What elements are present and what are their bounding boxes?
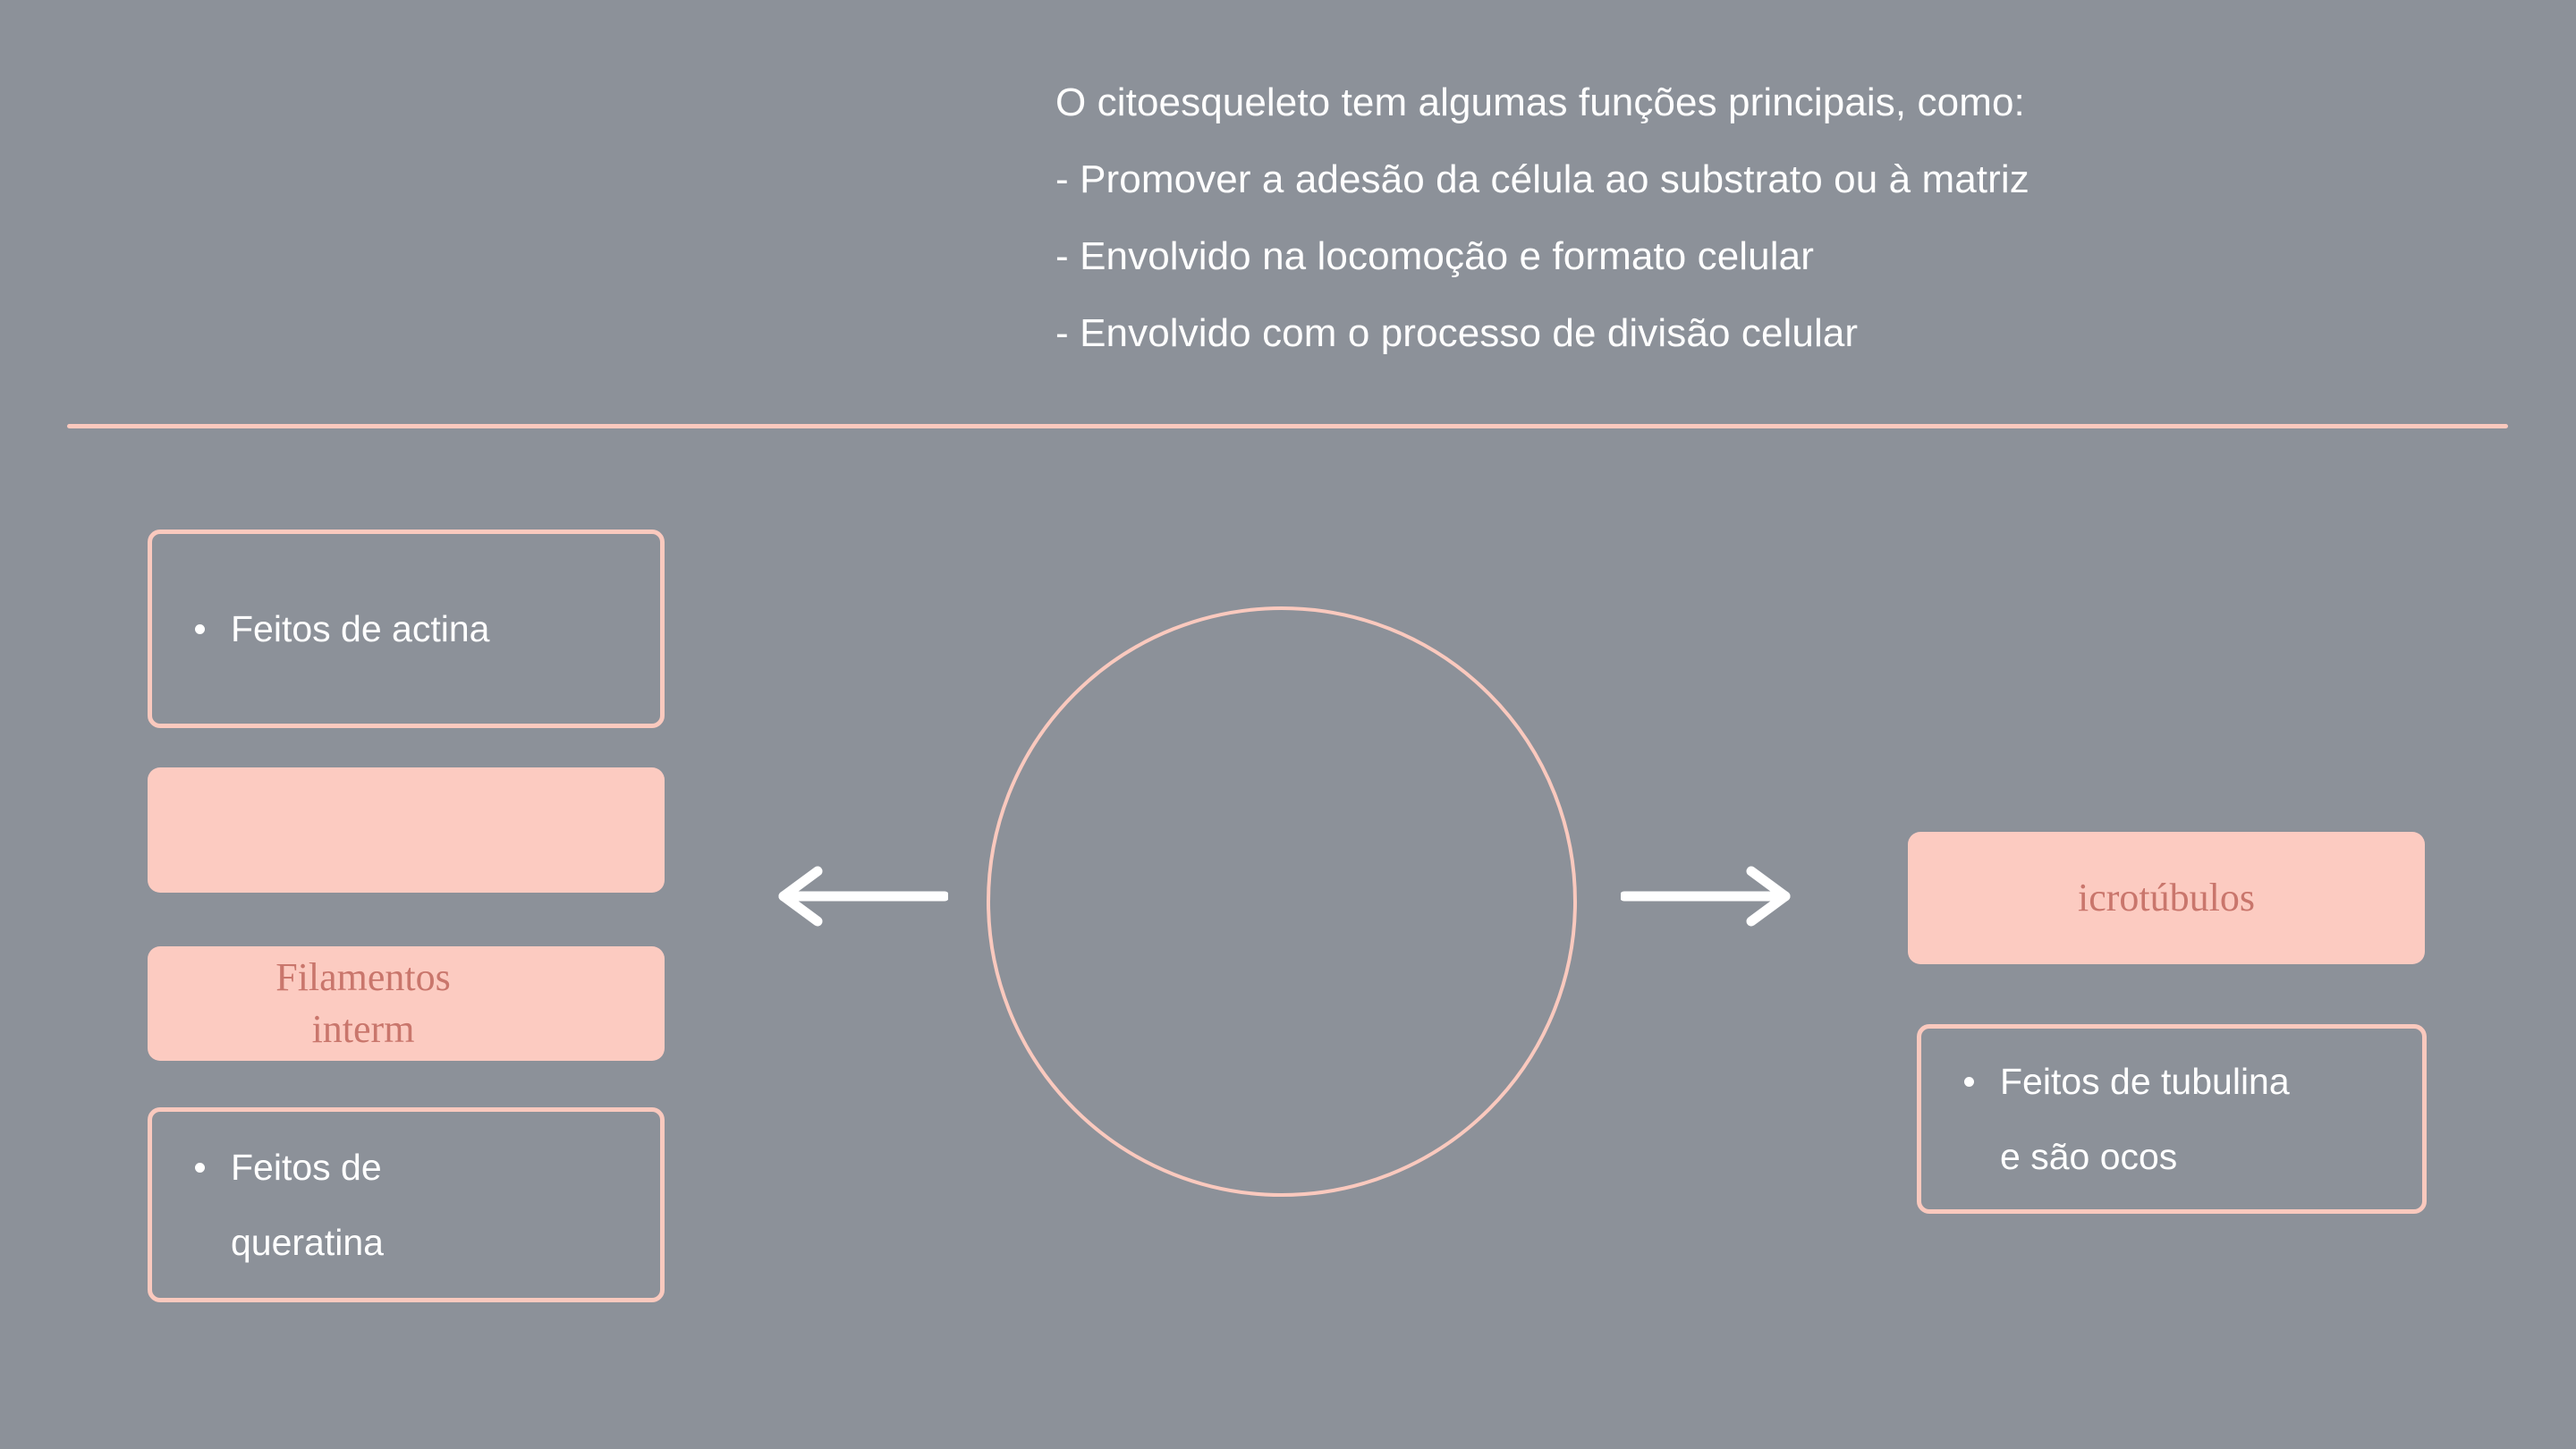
keratin-bullet-list: Feitos de queratina	[152, 1130, 660, 1280]
box-actin-bullets[interactable]: Feitos de actina	[148, 530, 665, 728]
box-tubulin-bullets[interactable]: Feitos de tubulina e são ocos	[1917, 1024, 2427, 1214]
slide-canvas: O citoesqueleto tem algumas funções prin…	[0, 0, 2576, 1449]
tubulin-bullet-item: Feitos de tubulina e são ocos	[1964, 1044, 2422, 1194]
header-line-bullet-1: - Promover a adesão da célula ao substra…	[1055, 141, 2326, 218]
box-intermediate-filaments[interactable]: Filamentos interm	[148, 946, 665, 1061]
arrow-left-icon	[769, 860, 948, 932]
tubulin-bullet-list: Feitos de tubulina e são ocos	[1921, 1044, 2422, 1194]
intermediate-filaments-label: Filamentos interm	[148, 952, 665, 1055]
header-line-bullet-2: - Envolvido na locomoção e formato celul…	[1055, 218, 2326, 295]
box-empty-pink[interactable]	[148, 767, 665, 893]
box-microtubules[interactable]: icrotúbulos	[1908, 832, 2425, 964]
actin-bullet-list: Feitos de actina	[152, 591, 660, 666]
header-text-block: O citoesqueleto tem algumas funções prin…	[1055, 64, 2326, 372]
header-line-title: O citoesqueleto tem algumas funções prin…	[1055, 64, 2326, 141]
header-line-bullet-3: - Envolvido com o processo de divisão ce…	[1055, 295, 2326, 372]
keratin-bullet-item: Feitos de queratina	[195, 1130, 660, 1280]
microtubules-label: icrotúbulos	[1908, 872, 2425, 924]
horizontal-divider	[67, 424, 2508, 428]
actin-bullet-item: Feitos de actina	[195, 591, 660, 666]
center-circle-node[interactable]	[987, 606, 1577, 1197]
box-keratin-bullets[interactable]: Feitos de queratina	[148, 1107, 665, 1302]
arrow-right-icon	[1621, 860, 1800, 932]
